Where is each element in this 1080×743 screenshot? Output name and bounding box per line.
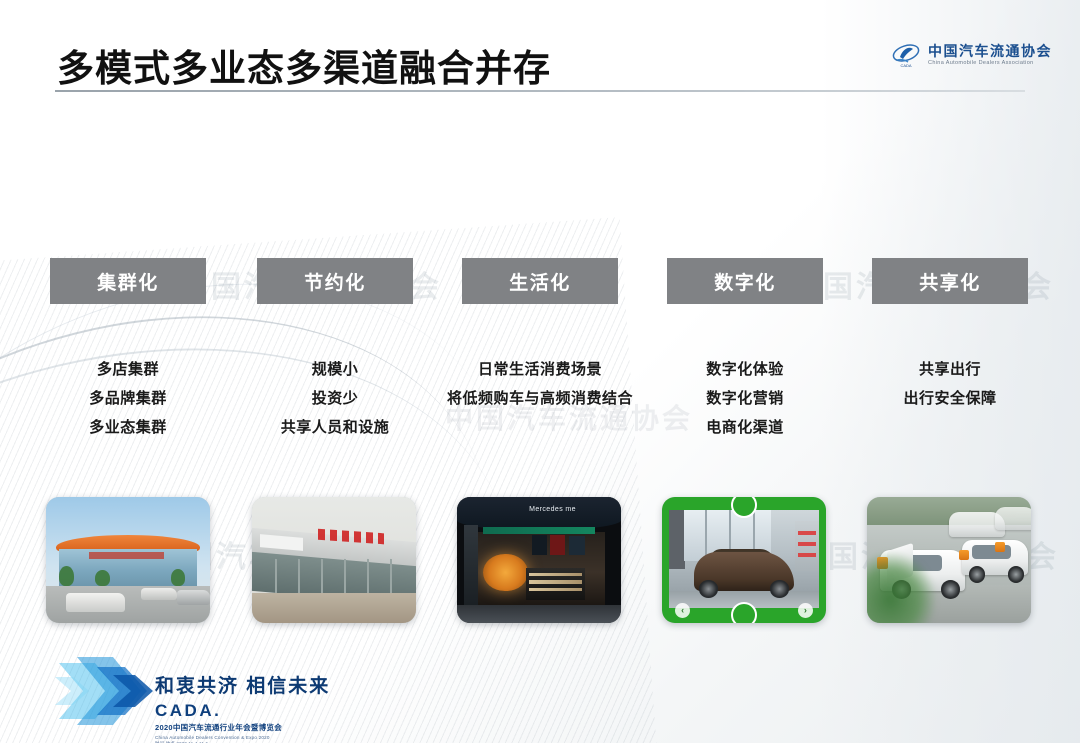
event-name-cn: 2020中国汽车流通行业年会暨博览会	[155, 722, 330, 733]
list-item: 将低频购车与高频消费结合	[447, 384, 633, 413]
list-item: 数字化体验	[706, 355, 784, 384]
event-badge: 和衷共济 相信未来 CADA. 2020中国汽车流通行业年会暨博览会 China…	[55, 651, 345, 737]
cada-emblem-icon: CADA	[891, 40, 921, 70]
list-item: 共享出行	[919, 355, 981, 384]
category-box-jiqunhua[interactable]: 集群化	[50, 258, 206, 304]
prev-arrow-icon[interactable]: ‹	[675, 603, 690, 618]
photo-dealership-strip	[252, 497, 416, 623]
category-box-shenghuohua[interactable]: 生活化	[462, 258, 618, 304]
list-item: 多品牌集群	[89, 384, 167, 413]
category-items-jiqunhua: 多店集群 多品牌集群 多业态集群	[13, 355, 243, 442]
list-item: 多店集群	[97, 355, 159, 384]
slide-canvas: 中国汽车流通协会 中国汽车流通协会 中国汽车流通协会 中国汽车流通协会 中国汽车…	[0, 0, 1080, 743]
category-items-gongxianghua: 共享出行 出行安全保障	[835, 355, 1065, 413]
association-name-cn: 中国汽车流通协会	[928, 44, 1052, 58]
list-item: 日常生活消费场景	[478, 355, 602, 384]
list-item: 电商化渠道	[706, 413, 784, 442]
association-logo: CADA 中国汽车流通协会 China Automobile Dealers A…	[891, 40, 1052, 70]
list-item: 数字化营销	[706, 384, 784, 413]
category-items-shuzihua: 数字化体验 数字化营销 电商化渠道	[630, 355, 860, 442]
next-arrow-icon[interactable]: ›	[798, 603, 813, 618]
list-item: 规模小	[312, 355, 359, 384]
svg-text:CADA: CADA	[900, 63, 911, 68]
list-item: 共享人员和设施	[281, 413, 390, 442]
photo-skoda-360-viewer: ‹ ›	[662, 497, 826, 623]
page-title: 多模式多业态多渠道融合并存	[57, 38, 551, 92]
category-box-jieyuehua[interactable]: 节约化	[257, 258, 413, 304]
photo-mercedes-me-store: Mercedes me	[457, 497, 621, 623]
list-item: 多业态集群	[89, 413, 167, 442]
category-box-shuzihua[interactable]: 数字化	[667, 258, 823, 304]
cada-wordmark: CADA.	[155, 701, 330, 721]
title-divider	[55, 90, 1025, 92]
mercedes-me-sign: Mercedes me	[529, 506, 576, 513]
list-item: 出行安全保障	[903, 384, 996, 413]
photo-shared-ev-fleet	[867, 497, 1031, 623]
category-items-shenghuohua: 日常生活消费场景 将低频购车与高频消费结合	[425, 355, 655, 413]
skoda-recenter-icon[interactable]	[731, 602, 757, 623]
association-name-en: China Automobile Dealers Association	[928, 61, 1052, 67]
event-name-en: China Automobile Dealers Convention & Ex…	[155, 735, 330, 740]
photo-auto-mall	[46, 497, 210, 623]
list-item: 投资少	[312, 384, 359, 413]
category-header-row: 集群化 节约化 生活化 数字化 共享化	[0, 258, 1080, 304]
event-slogan: 和衷共济 相信未来	[155, 671, 330, 698]
event-badge-text: 和衷共济 相信未来 CADA. 2020中国汽车流通行业年会暨博览会 China…	[155, 671, 330, 743]
association-logo-text: 中国汽车流通协会 China Automobile Dealers Associ…	[928, 44, 1052, 67]
category-items-jieyuehua: 规模小 投资少 共享人员和设施	[220, 355, 450, 442]
category-box-gongxianghua[interactable]: 共享化	[872, 258, 1028, 304]
